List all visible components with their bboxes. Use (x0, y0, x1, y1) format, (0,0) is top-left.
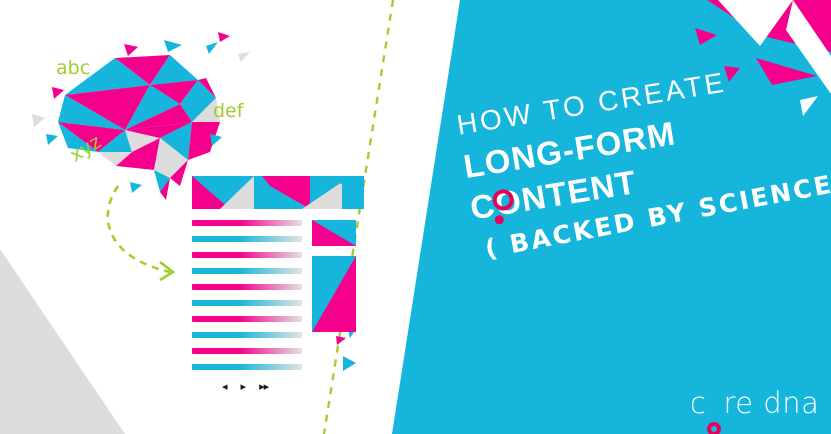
banner-root: abc def xyz (0, 0, 831, 434)
text-line (192, 220, 302, 226)
pager-prev-icon[interactable]: ◂ (222, 382, 227, 393)
pager-next-icon[interactable]: ▸ (241, 382, 246, 393)
text-line (192, 348, 302, 354)
text-line (192, 252, 302, 258)
text-line (192, 236, 302, 242)
article-thumbnail-top (312, 220, 356, 246)
text-line (192, 284, 302, 290)
text-line (192, 364, 302, 370)
article-pager[interactable]: ◂ ▸ ▸▸ (222, 380, 312, 394)
text-line (192, 300, 302, 306)
text-line (192, 268, 302, 274)
text-line (192, 332, 302, 338)
article-hero-banner (192, 176, 364, 209)
gray-corner-shape (0, 249, 125, 434)
article-thumbnail-bottom (312, 256, 356, 332)
article-text-lines (192, 220, 302, 380)
text-line (192, 316, 302, 322)
pager-last-icon[interactable]: ▸▸ (259, 382, 268, 393)
article-mockup: ◂ ▸ ▸▸ (192, 176, 364, 398)
